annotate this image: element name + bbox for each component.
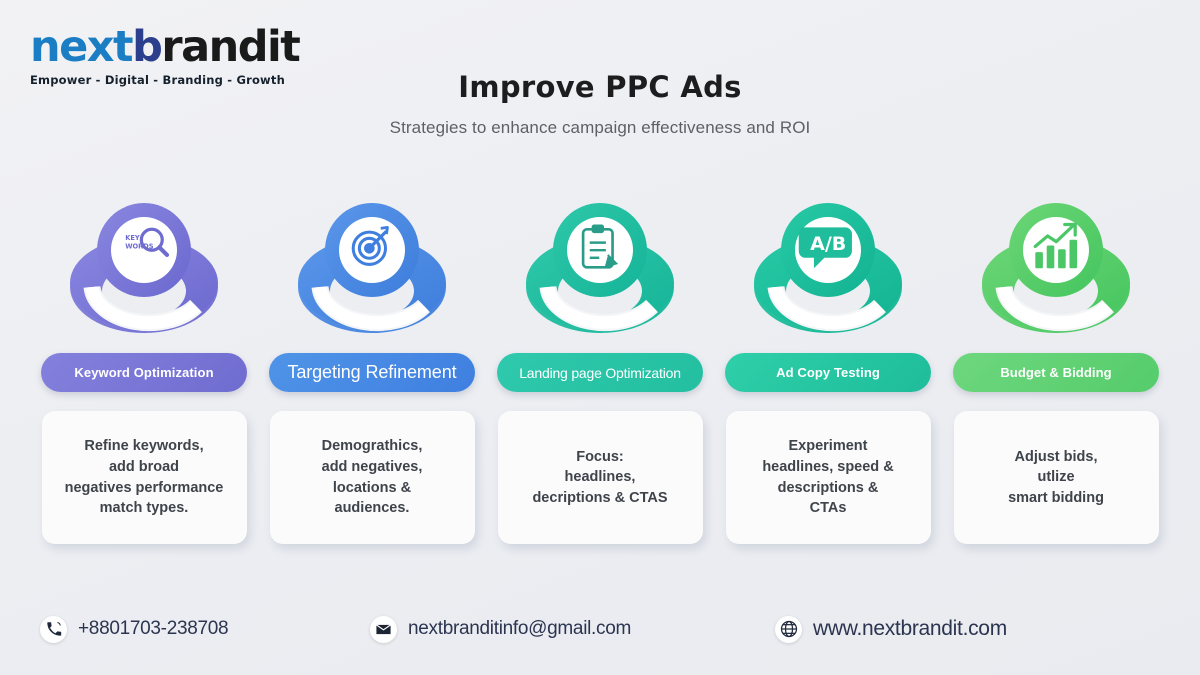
page-title: Improve PPC Ads	[0, 70, 1200, 104]
strategy-card: Demograthics, add negatives, locations &…	[270, 411, 475, 544]
strategy-badge[interactable]: Budget & Bidding	[953, 353, 1159, 392]
phone-number-text: +8801703-238708	[78, 618, 228, 640]
page-subtitle: Strategies to enhance campaign effective…	[0, 118, 1200, 138]
strategy-badge-label: Targeting Refinement	[287, 362, 456, 383]
strategy-badge-label: Landing page Optimization	[519, 365, 681, 381]
logo-text-next: next	[30, 22, 132, 72]
logo-text-b: b	[132, 22, 161, 72]
logo-text-randit: randit	[161, 22, 299, 72]
strategy-column: Targeting Refinement Demograthics, add n…	[268, 195, 476, 544]
footer-contact-bar: +8801703-238708 nextbranditinfo@gmail.co…	[0, 600, 1200, 658]
strategy-column: Landing page Optimization Focus: headlin…	[496, 195, 704, 544]
strategy-card-text: Refine keywords, add broad negatives per…	[65, 436, 224, 518]
clipboard-pencil-icon	[515, 195, 685, 345]
strategy-card: Refine keywords, add broad negatives per…	[42, 411, 247, 544]
icon-ring-graphic	[515, 195, 685, 345]
globe-icon	[775, 616, 802, 643]
strategy-column: A/B Ad Copy Testing Experiment headlines…	[724, 195, 932, 544]
icon-ring-graphic	[287, 195, 457, 345]
ab-test-bubble-icon: A/B	[743, 195, 913, 345]
growth-bar-chart-icon	[971, 195, 1141, 345]
contact-email[interactable]: nextbranditinfo@gmail.com	[370, 616, 631, 643]
strategy-card-text: Focus: headlines, decriptions & CTAS	[532, 447, 667, 509]
strategy-card-text: Adjust bids, utlize smart bidding	[1008, 447, 1104, 509]
strategy-badge[interactable]: Targeting Refinement	[269, 353, 475, 392]
keyword-magnifier-icon: KEY WORDS	[59, 195, 229, 345]
icon-ring-graphic	[971, 195, 1141, 345]
contact-phone[interactable]: +8801703-238708	[40, 616, 228, 643]
strategy-card-text: Demograthics, add negatives, locations &…	[322, 436, 423, 518]
strategy-columns: KEY WORDS Keyword Optimization Refine ke…	[40, 195, 1160, 544]
strategy-badge-label: Keyword Optimization	[74, 365, 213, 380]
strategy-badge[interactable]: Keyword Optimization	[41, 353, 247, 392]
website-url-text: www.nextbrandit.com	[813, 617, 1007, 641]
strategy-card: Focus: headlines, decriptions & CTAS	[498, 411, 703, 544]
svg-text:A/B: A/B	[810, 233, 846, 255]
strategy-card-text: Experiment headlines, speed & descriptio…	[762, 436, 893, 518]
strategy-card: Experiment headlines, speed & descriptio…	[726, 411, 931, 544]
icon-ring-graphic: KEY WORDS	[59, 195, 229, 345]
logo-wordmark: nextbrandit	[30, 26, 320, 69]
target-dart-icon	[287, 195, 457, 345]
strategy-badge-label: Budget & Bidding	[1000, 365, 1111, 380]
strategy-card: Adjust bids, utlize smart bidding	[954, 411, 1159, 544]
strategy-badge[interactable]: Ad Copy Testing	[725, 353, 931, 392]
strategy-column: Budget & Bidding Adjust bids, utlize sma…	[952, 195, 1160, 544]
strategy-badge-label: Ad Copy Testing	[776, 365, 880, 380]
strategy-column: KEY WORDS Keyword Optimization Refine ke…	[40, 195, 248, 544]
envelope-icon	[370, 616, 397, 643]
header: Improve PPC Ads Strategies to enhance ca…	[0, 70, 1200, 138]
strategy-badge[interactable]: Landing page Optimization	[497, 353, 703, 392]
icon-ring-graphic: A/B	[743, 195, 913, 345]
email-address-text: nextbranditinfo@gmail.com	[408, 618, 631, 640]
contact-website[interactable]: www.nextbrandit.com	[775, 616, 1007, 643]
phone-icon	[40, 616, 67, 643]
svg-text:KEY: KEY	[125, 234, 140, 242]
